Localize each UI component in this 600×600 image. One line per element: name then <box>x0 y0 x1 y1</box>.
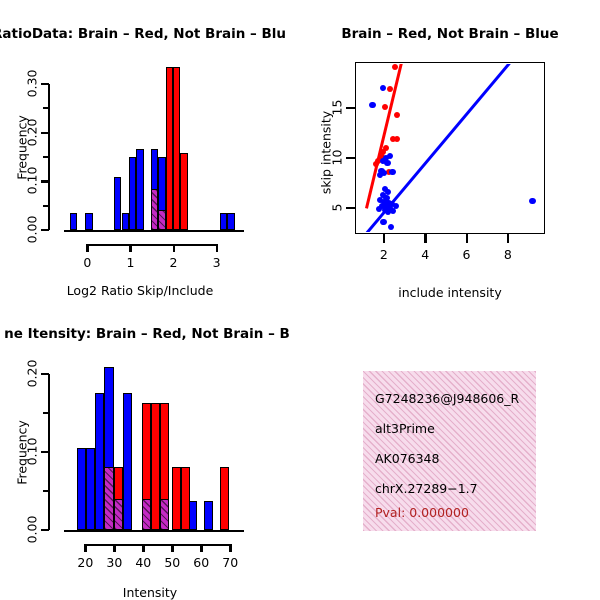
x-tick-label: 60 <box>185 555 217 570</box>
histogram-bar-not-brain <box>85 213 92 230</box>
scatter-point-brain <box>394 136 400 142</box>
x-tick-label: 40 <box>127 555 159 570</box>
histogram-bar-not-brain <box>204 501 213 530</box>
x-tick <box>216 244 218 252</box>
scatter-data-clip <box>357 64 543 232</box>
histogram-bar-brain <box>181 467 190 530</box>
histogram-bar-overlap <box>151 189 158 230</box>
y-tick-label: 0.30 <box>25 61 40 105</box>
histogram-bar-not-brain <box>129 157 136 230</box>
histogram-bar-not-brain <box>227 213 234 230</box>
y-tick <box>41 529 49 531</box>
x-tick-bar <box>85 544 230 546</box>
histogram-bar-overlap <box>160 499 169 530</box>
x-tick-label: 4 <box>409 247 441 262</box>
histogram-bar-not-brain <box>114 177 121 230</box>
x-tick-label: 20 <box>69 555 101 570</box>
info-locus: chrX.27289−1.7 <box>375 481 478 496</box>
y-tick-label: 0.20 <box>25 351 40 395</box>
x-tick <box>171 544 173 552</box>
y-minor-tick <box>43 205 48 207</box>
gene-intensity-plot: 0.000.100.20203040506070 <box>0 300 300 600</box>
event-info-panel: G7248236@J948606_R alt3Prime AK076348 ch… <box>363 371 536 531</box>
x-tick <box>142 544 144 552</box>
y-tick <box>346 207 355 209</box>
y-tick <box>346 157 355 159</box>
y-tick-label: 15 <box>330 86 345 130</box>
y-tick <box>346 107 355 109</box>
histogram-bar-brain <box>180 153 187 230</box>
y-tick <box>41 180 49 182</box>
scatter-point-brain <box>394 112 400 118</box>
scatter-point-not-brain <box>529 198 535 204</box>
x-tick-label: 8 <box>492 247 524 262</box>
histogram-bar-brain <box>220 467 229 530</box>
x-tick <box>229 544 231 552</box>
y-tick-label: 10 <box>330 136 345 180</box>
y-tick-label: 0.00 <box>25 508 40 552</box>
y-tick-label: 0.20 <box>25 110 40 154</box>
x-tick-label: 50 <box>156 555 188 570</box>
y-minor-tick <box>43 107 48 109</box>
histogram-bar-brain <box>151 403 160 530</box>
x-tick <box>129 244 131 252</box>
y-tick-label: 5 <box>330 186 345 230</box>
x-tick-label: 30 <box>98 555 130 570</box>
histogram-bar-brain <box>173 67 180 230</box>
x-tick <box>84 544 86 552</box>
scatter-point-not-brain <box>377 172 383 178</box>
histogram-bar-overlap <box>158 210 165 230</box>
ratio-histogram-panel: RatioData: Brain – Red, Not Brain – Blu … <box>0 0 300 300</box>
y-tick <box>41 83 49 85</box>
histogram-bar-not-brain <box>220 213 227 230</box>
x-tick-label: 70 <box>214 555 246 570</box>
x-tick-label: 1 <box>114 255 146 270</box>
y-tick <box>41 132 49 134</box>
histogram-bar-not-brain <box>136 149 143 230</box>
y-minor-tick <box>43 490 48 492</box>
y-tick <box>41 373 49 375</box>
x-tick <box>113 544 115 552</box>
x-axis-line <box>64 530 244 532</box>
info-pval: Pval: 0.000000 <box>375 505 469 520</box>
intensity-scatter-panel: Brain – Red, Not Brain – Blue skip inten… <box>300 0 600 300</box>
x-tick <box>200 544 202 552</box>
scatter-point-not-brain <box>388 224 394 230</box>
histogram-bar-overlap <box>114 499 123 530</box>
scatter-point-not-brain <box>376 206 382 212</box>
y-minor-tick <box>43 412 48 414</box>
ratio-histogram-plot: 0.000.100.200.300123 <box>0 0 300 300</box>
gene-intensity-histogram-panel: ne Itensity: Brain – Red, Not Brain – B … <box>0 300 300 600</box>
scatter-point-not-brain <box>384 160 390 166</box>
x-tick <box>466 234 468 243</box>
y-tick <box>41 451 49 453</box>
histogram-bar-not-brain <box>70 213 77 230</box>
x-tick <box>424 234 426 243</box>
histogram-bar-brain <box>166 67 173 230</box>
info-event-type: alt3Prime <box>375 421 435 436</box>
x-tick-label: 2 <box>368 247 400 262</box>
x-tick-label: 3 <box>201 255 233 270</box>
x-tick-bar <box>87 244 216 246</box>
info-accession: AK076348 <box>375 451 439 466</box>
scatter-point-not-brain <box>385 209 391 215</box>
x-tick <box>173 244 175 252</box>
y-tick-label: 0.00 <box>25 208 40 252</box>
histogram-bar-brain <box>172 467 181 530</box>
histogram-bar-not-brain <box>86 448 95 530</box>
histogram-bar-overlap <box>104 467 113 530</box>
scatter-point-not-brain <box>369 102 375 108</box>
y-tick-label: 0.10 <box>25 159 40 203</box>
scatter-point-not-brain <box>380 219 386 225</box>
scatter-plot: 510152468 <box>300 0 600 300</box>
x-tick-label: 6 <box>451 247 483 262</box>
y-tick-label: 0.10 <box>25 429 40 473</box>
info-probe-id: G7248236@J948606_R <box>375 391 519 406</box>
x-tick <box>507 234 509 243</box>
y-axis-line <box>48 84 50 230</box>
y-tick <box>41 229 49 231</box>
scatter-point-not-brain <box>380 85 386 91</box>
y-minor-tick <box>43 156 48 158</box>
scatter-point-brain <box>382 104 388 110</box>
histogram-bar-not-brain <box>77 448 86 530</box>
x-tick <box>383 234 385 243</box>
histogram-bar-not-brain <box>95 393 104 530</box>
histogram-bar-not-brain <box>122 213 129 230</box>
x-tick <box>86 244 88 252</box>
histogram-bar-not-brain <box>123 393 132 530</box>
scatter-point-not-brain <box>389 169 395 175</box>
x-axis-line <box>64 230 244 232</box>
x-tick-label: 0 <box>71 255 103 270</box>
scatter-point-not-brain <box>393 203 399 209</box>
histogram-bar-overlap <box>142 499 151 530</box>
x-tick-label: 2 <box>158 255 190 270</box>
